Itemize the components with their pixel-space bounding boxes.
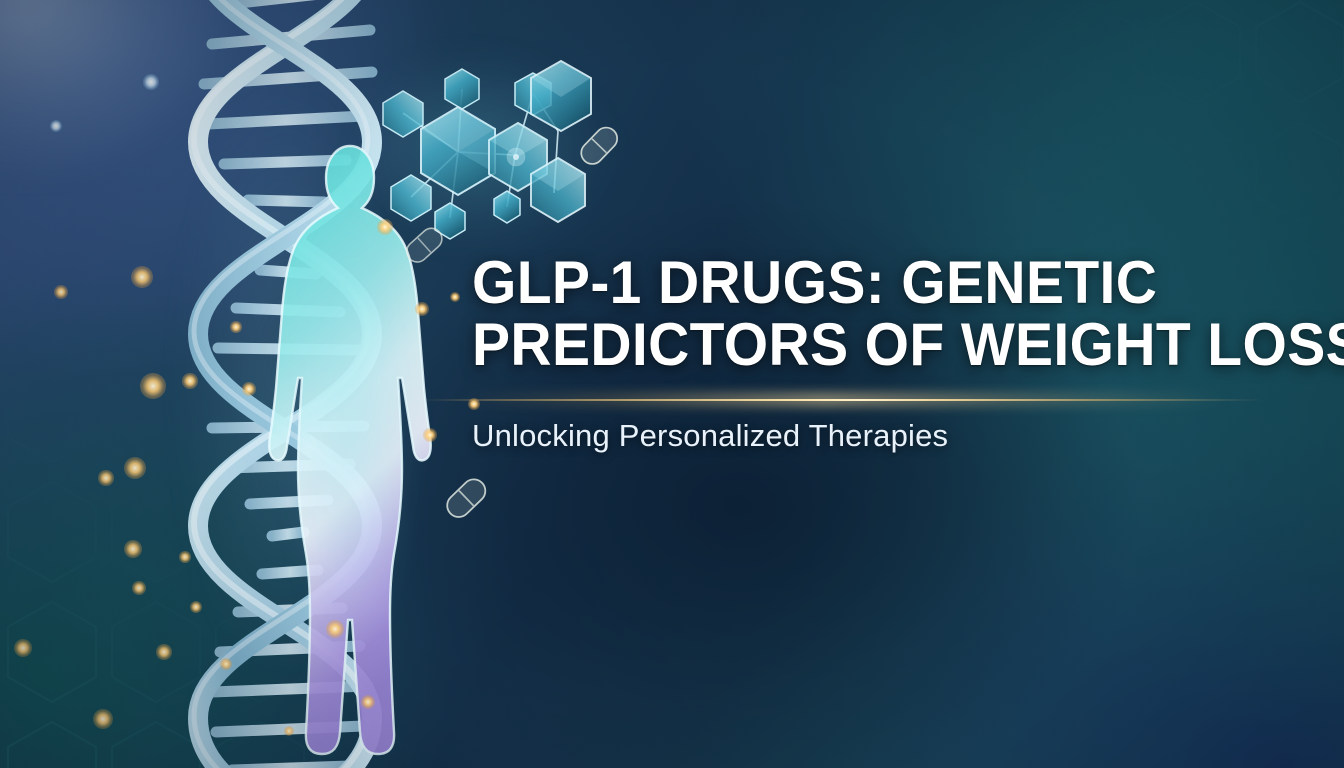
golden-accent-divider <box>422 398 1262 401</box>
subheadline: Unlocking Personalized Therapies <box>472 417 1262 455</box>
title-block: GLP-1 DRUGS: GENETIC PREDICTORS OF WEIGH… <box>472 252 1262 455</box>
headline-line-1: GLP-1 DRUGS: GENETIC <box>472 252 1223 314</box>
divider-line <box>422 399 1262 401</box>
banner-canvas: GLP-1 DRUGS: GENETIC PREDICTORS OF WEIGH… <box>0 0 1344 768</box>
headline-line-2: PREDICTORS OF WEIGHT LOSS <box>472 314 1223 376</box>
